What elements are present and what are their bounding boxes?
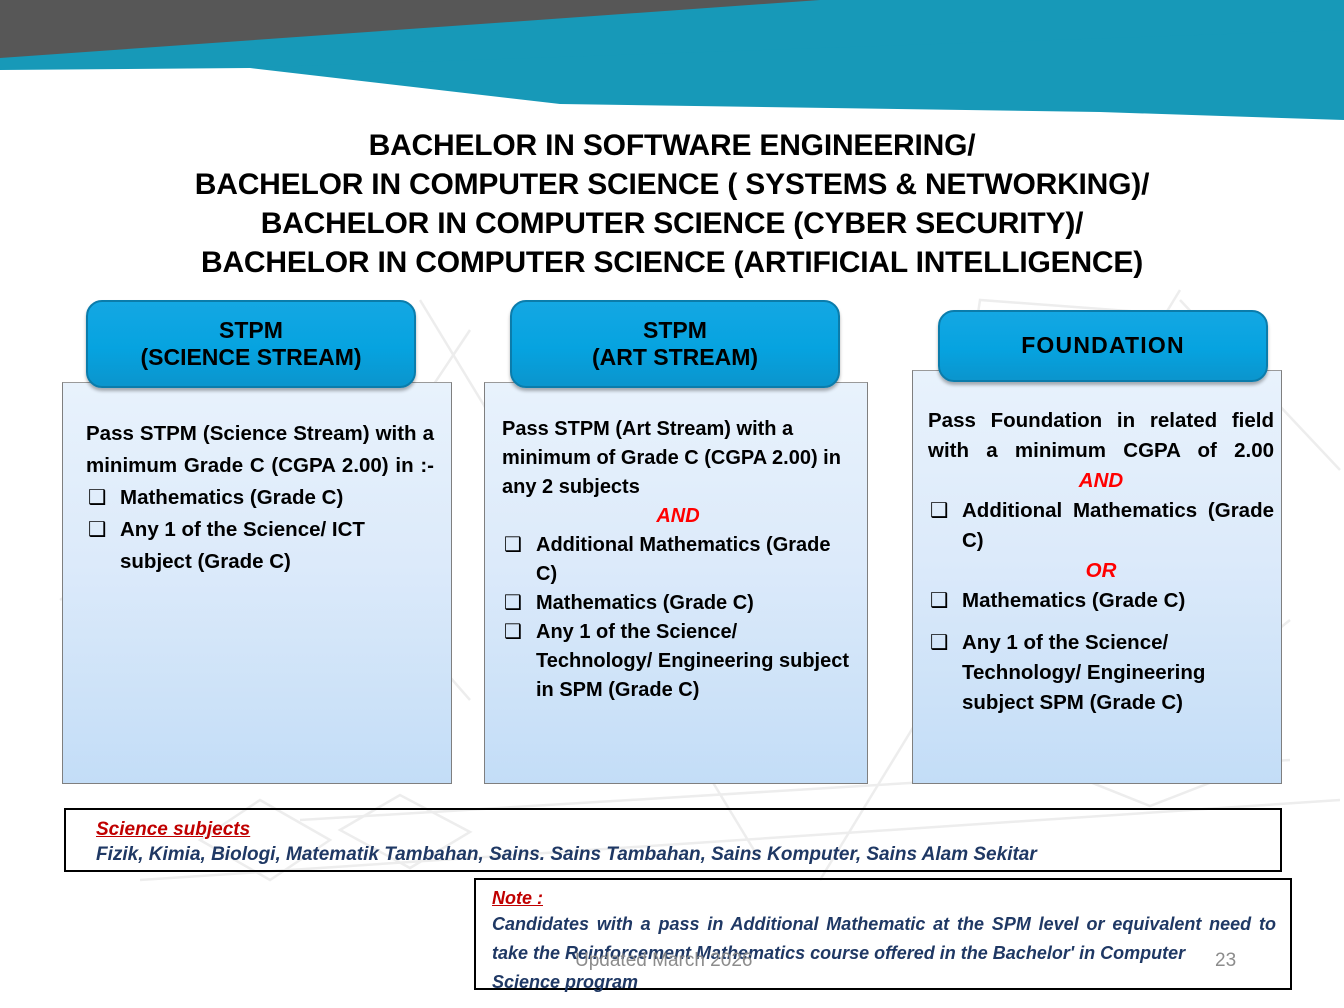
list-item: ❑ Any 1 of the Science/ Technology/ Engi…: [502, 618, 854, 705]
card-intro-text: Pass STPM (Art Stream) with a minimum of…: [502, 415, 854, 502]
science-subjects-list: Fizik, Kimia, Biologi, Matematik Tambaha…: [96, 842, 1250, 868]
card-bullet-list-1: ❑ Additional Mathematics (Grade C): [928, 496, 1274, 556]
footer-updated-label: Updated March 2026: [575, 950, 752, 972]
checkbox-square-icon: ❑: [930, 628, 948, 658]
list-item: ❑ Any 1 of the Science/ Technology/ Engi…: [928, 628, 1274, 718]
checkbox-square-icon: ❑: [88, 514, 106, 546]
list-item-label: Any 1 of the Science/ Technology/ Engine…: [536, 621, 849, 701]
list-item-label: Mathematics (Grade C): [962, 589, 1185, 612]
checkbox-square-icon: ❑: [930, 586, 948, 616]
note-box: Note : Candidates with a pass in Additio…: [474, 878, 1292, 990]
checkbox-square-icon: ❑: [930, 496, 948, 526]
footer-page-number: 23: [1215, 950, 1236, 972]
card-bullet-list: ❑ Mathematics (Grade C) ❑ Any 1 of the S…: [86, 482, 434, 578]
checkbox-square-icon: ❑: [504, 618, 522, 647]
card-content-foundation: Pass Foundation in related field with a …: [928, 406, 1274, 718]
card-header-stpm-science[interactable]: STPM (SCIENCE STREAM): [86, 300, 416, 388]
checkbox-square-icon: ❑: [504, 589, 522, 618]
card-header-stpm-art[interactable]: STPM (ART STREAM): [510, 300, 840, 388]
card-content-stpm-science: Pass STPM (Science Stream) with a minimu…: [86, 418, 434, 578]
science-subjects-heading-row: Science subjects: [96, 818, 1250, 842]
list-item: ❑ Mathematics (Grade C): [502, 589, 854, 618]
page-title: BACHELOR IN SOFTWARE ENGINEERING/ BACHEL…: [60, 126, 1284, 282]
card-bullet-list-2: ❑ Mathematics (Grade C): [928, 586, 1274, 616]
list-item-label: Mathematics (Grade C): [120, 486, 343, 509]
science-subjects-box: Science subjects Fizik, Kimia, Biologi, …: [64, 808, 1282, 872]
card-header-label: STPM (SCIENCE STREAM): [140, 317, 361, 371]
list-item: ❑ Additional Mathematics (Grade C): [502, 531, 854, 589]
science-subjects-title: Science subjects: [96, 818, 250, 842]
slide-canvas: BACHELOR IN SOFTWARE ENGINEERING/ BACHEL…: [0, 0, 1344, 1008]
card-content-stpm-art: Pass STPM (Art Stream) with a minimum of…: [502, 415, 854, 705]
card-header-label: STPM (ART STREAM): [592, 317, 758, 371]
conjunction-and: AND: [502, 502, 854, 531]
list-item-label: Additional Mathematics (Grade C): [536, 534, 831, 585]
list-item-label: Any 1 of the Science/ Technology/ Engine…: [962, 631, 1205, 714]
conjunction-and: AND: [928, 466, 1274, 496]
list-item-label: Any 1 of the Science/ ICT subject (Grade…: [120, 518, 365, 573]
banner-shapes-svg: [0, 0, 1344, 130]
card-intro-text: Pass Foundation in related field with a …: [928, 406, 1274, 466]
header-banner-decoration: [0, 0, 1344, 130]
list-item: ❑ Mathematics (Grade C): [86, 482, 434, 514]
conjunction-or: OR: [928, 556, 1274, 586]
card-intro-text: Pass STPM (Science Stream) with a minimu…: [86, 418, 434, 482]
list-item-label: Mathematics (Grade C): [536, 592, 754, 614]
checkbox-square-icon: ❑: [504, 531, 522, 560]
card-bullet-list-3: ❑ Any 1 of the Science/ Technology/ Engi…: [928, 628, 1274, 718]
list-item: ❑ Mathematics (Grade C): [928, 586, 1274, 616]
list-item: ❑ Additional Mathematics (Grade C): [928, 496, 1274, 556]
list-item: ❑ Any 1 of the Science/ ICT subject (Gra…: [86, 514, 434, 578]
card-bullet-list: ❑ Additional Mathematics (Grade C) ❑ Mat…: [502, 531, 854, 705]
note-body-text-last: Science program: [492, 968, 1276, 997]
list-item-label: Additional Mathematics (Grade C): [962, 496, 1274, 556]
note-title: Note :: [492, 886, 543, 910]
checkbox-square-icon: ❑: [88, 482, 106, 514]
card-header-foundation[interactable]: FOUNDATION: [938, 310, 1268, 382]
note-heading-row: Note :: [492, 886, 1276, 910]
card-header-label: FOUNDATION: [1021, 332, 1185, 359]
